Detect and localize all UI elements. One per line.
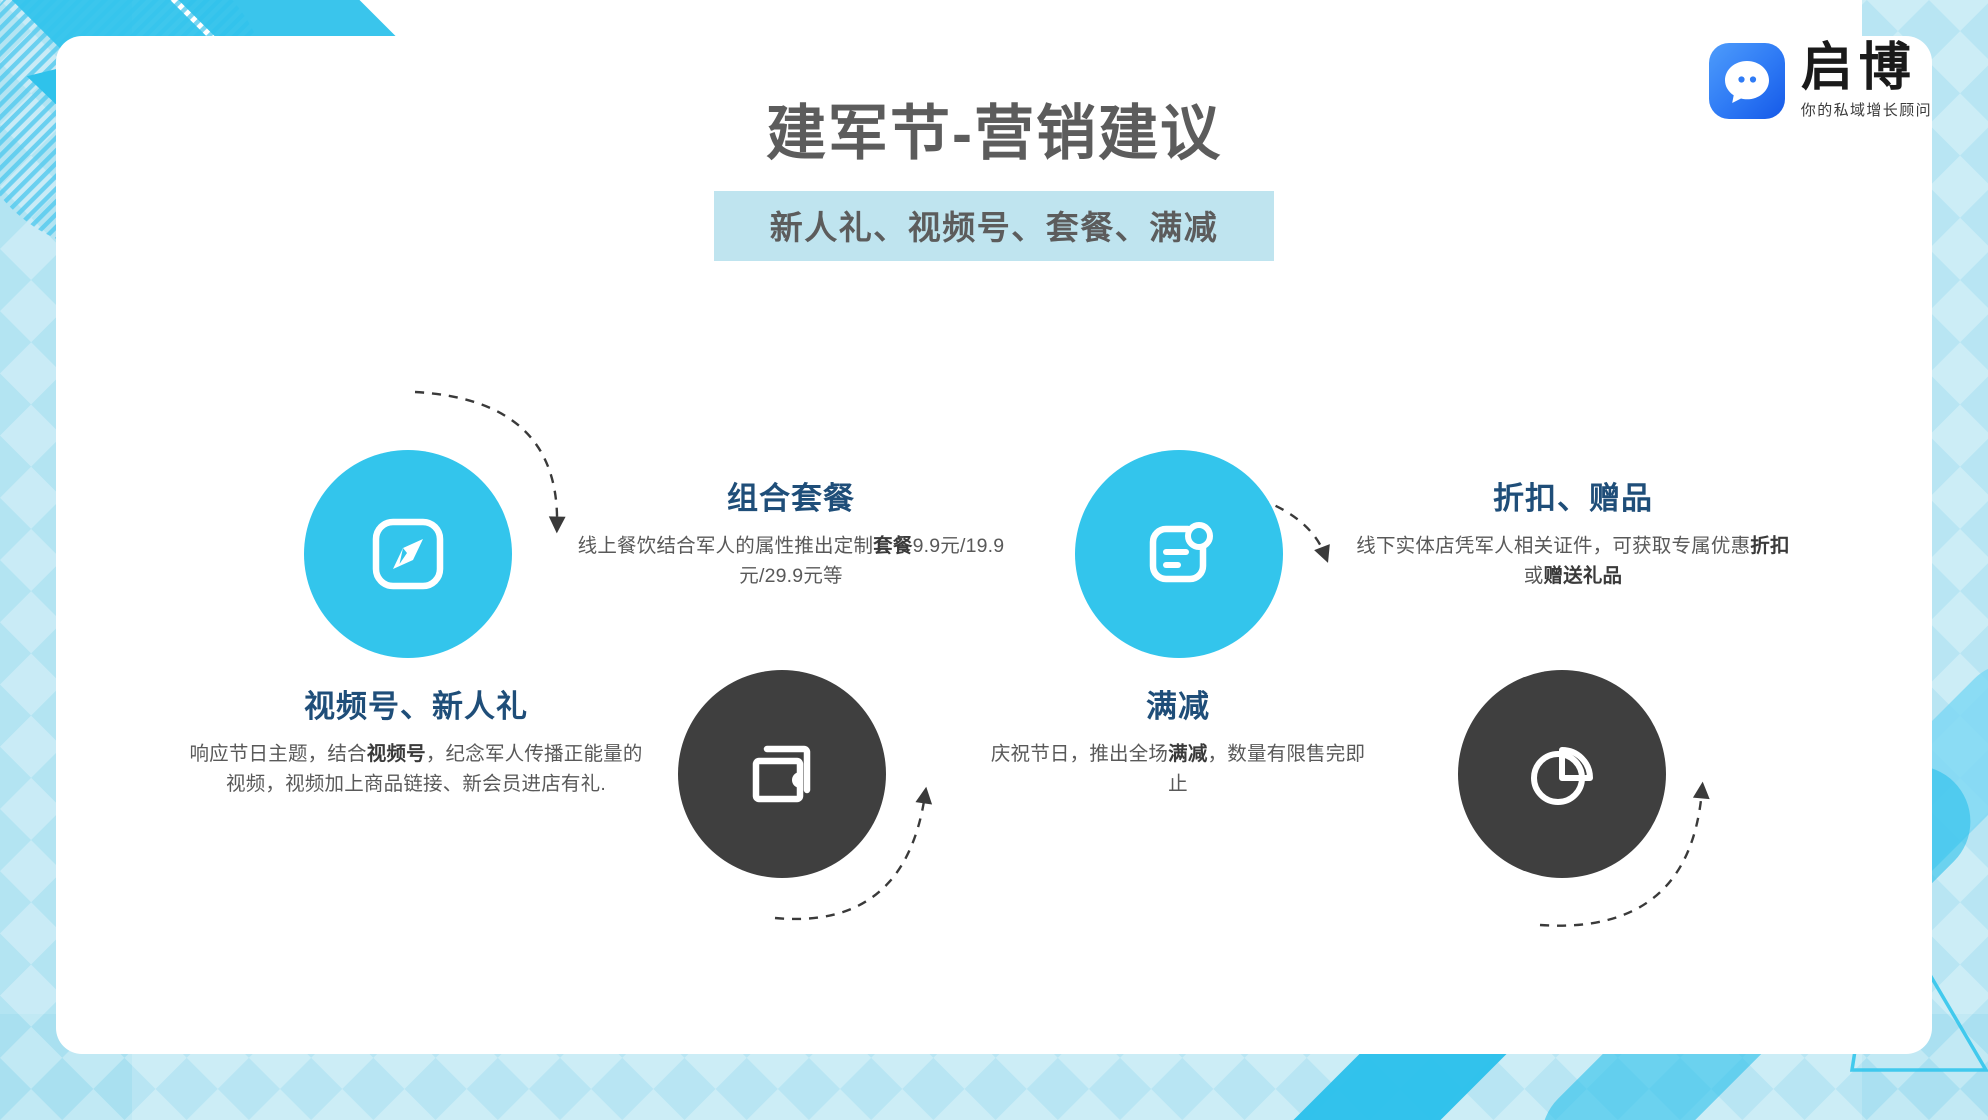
desc-emphasis: 套餐 [873,535,912,557]
item-desc-video-newcomer: 响应节日主题，结合视频号，纪念军人传播正能量的视频，视频加上商品链接、新会员进店… [186,739,646,799]
item-desc-full-reduction: 庆祝节日，推出全场满减，数量有限售完即止 [983,739,1373,799]
page-title: 建军节-营销建议 [0,102,1988,167]
item-title-discount-gift: 折扣、赠品 [1354,480,1792,519]
desc-seg: 线下实体店凭军人相关证件，可获取专属优惠 [1356,535,1750,557]
item-desc-combo-package: 线上餐饮结合军人的属性推出定制套餐9.9元/19.9元/29.9元等 [560,531,1022,591]
text-block-combo-package: 组合套餐 线上餐饮结合军人的属性推出定制套餐9.9元/19.9元/29.9元等 [560,480,1022,591]
logo-name: 启博 [1801,42,1917,95]
item-title-combo-package: 组合套餐 [560,480,1022,519]
item-title-full-reduction: 满减 [983,688,1373,727]
text-block-video-newcomer: 视频号、新人礼 响应节日主题，结合视频号，纪念军人传播正能量的视频，视频加上商品… [186,688,646,799]
heading-block: 建军节-营销建议 新人礼、视频号、套餐、满减 [0,102,1988,261]
subtitle-band: 新人礼、视频号、套餐、满减 [714,191,1275,261]
desc-seg: 庆祝节日，推出全场 [991,743,1168,765]
icon-circle-discount-gift[interactable] [1458,670,1666,878]
icon-circle-combo-package[interactable] [678,670,886,878]
item-title-video-newcomer: 视频号、新人礼 [186,688,646,727]
wallet-icon [736,728,828,820]
desc-seg: 线上餐饮结合军人的属性推出定制 [578,535,874,557]
item-desc-discount-gift: 线下实体店凭军人相关证件，可获取专属优惠折扣或赠送礼品 [1354,531,1792,591]
text-block-full-reduction: 满减 庆祝节日，推出全场满减，数量有限售完即止 [983,688,1373,799]
desc-emphasis: 赠送礼品 [1543,565,1622,587]
text-block-discount-gift: 折扣、赠品 线下实体店凭军人相关证件，可获取专属优惠折扣或赠送礼品 [1354,480,1792,591]
desc-seg: 响应节日主题，结合 [189,743,366,765]
page-subtitle: 新人礼、视频号、套餐、满减 [770,209,1219,246]
pie-chart-icon [1516,728,1608,820]
notification-list-icon [1133,508,1225,600]
icon-circle-video-newcomer[interactable] [304,450,512,658]
compass-icon [362,508,454,600]
desc-emphasis: 折扣 [1750,535,1789,557]
slide-canvas: 启博 你的私域增长顾问 建军节-营销建议 新人礼、视频号、套餐、满减 [0,0,1988,1120]
desc-seg: 或 [1524,565,1544,587]
desc-emphasis: 视频号 [367,743,426,765]
desc-emphasis: 满减 [1168,743,1207,765]
icon-circle-full-reduction[interactable] [1075,450,1283,658]
